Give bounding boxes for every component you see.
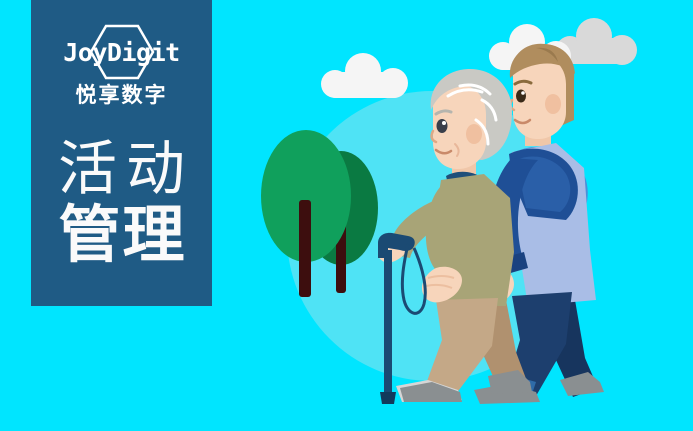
logo-chinese-name: 悦享数字 <box>76 85 168 106</box>
page-title: 活动 管理 <box>49 138 194 268</box>
elderly-woman-ear <box>466 124 482 144</box>
young-man-eye <box>516 90 526 103</box>
logo-lockup: JoyDigit <box>47 26 197 78</box>
cane-shaft <box>384 250 392 394</box>
elderly-woman-eye-highlight <box>442 121 446 125</box>
elderly-woman-eye <box>437 119 448 133</box>
brand-panel: JoyDigit 悦享数字 活动 管理 <box>31 0 212 306</box>
page-title-line-2: 管理 <box>49 203 194 267</box>
page-title-line-1: 活动 <box>49 138 194 199</box>
young-man-ear <box>545 94 561 114</box>
logo-wordmark: JoyDigit <box>63 40 179 65</box>
young-man-eye-highlight <box>521 91 525 95</box>
poster-canvas: JoyDigit 悦享数字 活动 管理 <box>0 0 693 431</box>
cane-tip <box>380 392 396 404</box>
